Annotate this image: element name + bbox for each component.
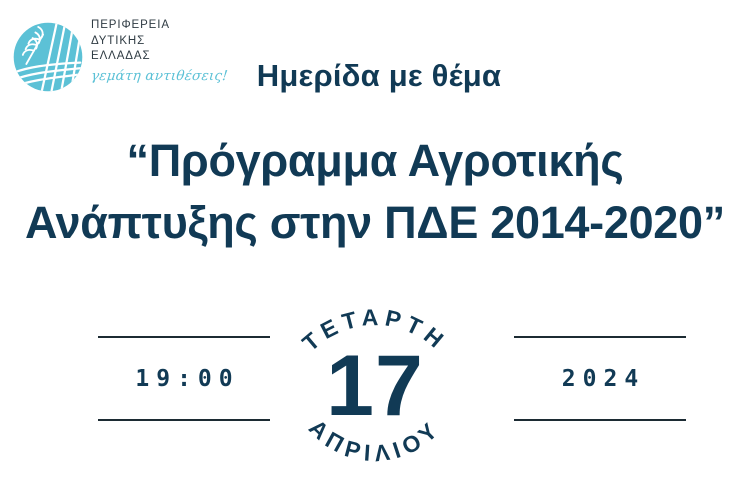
year-rule-top (514, 336, 686, 338)
event-kicker: Ημερίδα με θέμα (0, 58, 750, 94)
event-year: 2024 (514, 366, 686, 392)
event-year-box: 2024 (514, 336, 686, 421)
logo-line-1: ΠΕΡΙΦΕΡΕΙΑ (91, 18, 226, 34)
event-time-box: 19:00 (98, 336, 270, 421)
event-date-strip: 19:00 ΤΕΤΑΡΤΗ ΑΠΡΙΛΙΟΥ 17 2024 (0, 288, 750, 493)
event-title-line-1: “Πρόγραμμα Αγροτικής (0, 130, 750, 192)
time-rule-bottom (98, 419, 270, 421)
event-date-stamp: ΤΕΤΑΡΤΗ ΑΠΡΙΛΙΟΥ 17 (270, 288, 480, 493)
event-time: 19:00 (98, 366, 270, 392)
event-title-line-2: Ανάπτυξης στην ΠΔΕ 2014-2020” (0, 192, 750, 254)
year-rule-bottom (514, 419, 686, 421)
time-rule-top (98, 336, 270, 338)
event-poster: ΠΕΡΙΦΕΡΕΙΑ ΔΥΤΙΚΗΣ ΕΛΛΑΔΑΣ γεμάτη αντιθέ… (0, 0, 750, 501)
event-title: “Πρόγραμμα Αγροτικής Ανάπτυξης στην ΠΔΕ … (0, 130, 750, 254)
event-day-number: 17 (270, 334, 480, 438)
logo-line-2: ΔΥΤΙΚΗΣ (91, 34, 226, 50)
